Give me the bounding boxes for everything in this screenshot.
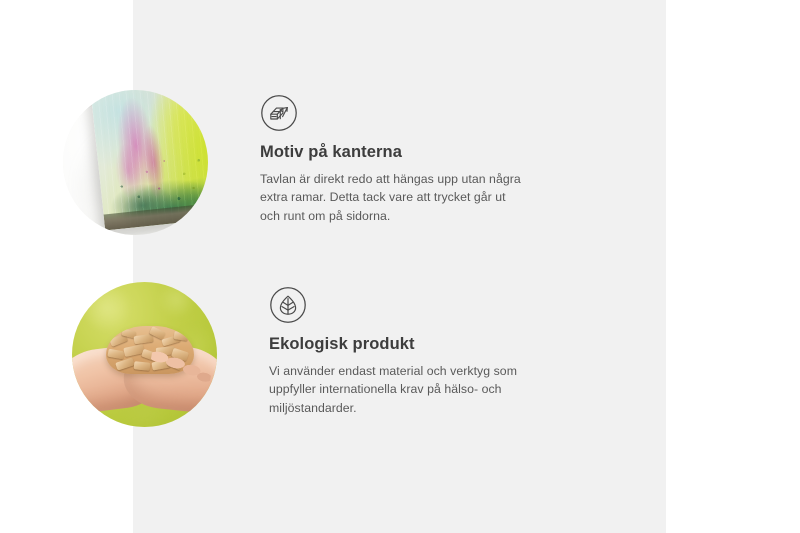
feature-description: Vi använder endast material och verktyg … (269, 362, 537, 418)
feature-title: Motiv på kanterna (260, 142, 528, 163)
canvas-print-corner-photo (63, 90, 208, 235)
leaf-eco-icon (269, 286, 307, 324)
canvas-wrapped-edge-icon (260, 94, 298, 132)
canvas-print-object (90, 90, 208, 230)
feature-block-eco: Ekologisk produkt Vi använder endast mat… (72, 282, 537, 427)
feature-title: Ekologisk produkt (269, 334, 537, 355)
hands-holding-wood-chips-photo (72, 282, 217, 427)
feature-description: Tavlan är direkt redo att hängas upp uta… (260, 170, 528, 226)
content-background (133, 0, 666, 533)
product-info-panel: Motiv på kanterna Tavlan är direkt redo … (0, 0, 800, 533)
feature-block-edge-print: Motiv på kanterna Tavlan är direkt redo … (63, 90, 528, 235)
feature-copy-edge-print: Motiv på kanterna Tavlan är direkt redo … (260, 90, 528, 226)
feature-copy-eco: Ekologisk produkt Vi använder endast mat… (269, 282, 537, 418)
